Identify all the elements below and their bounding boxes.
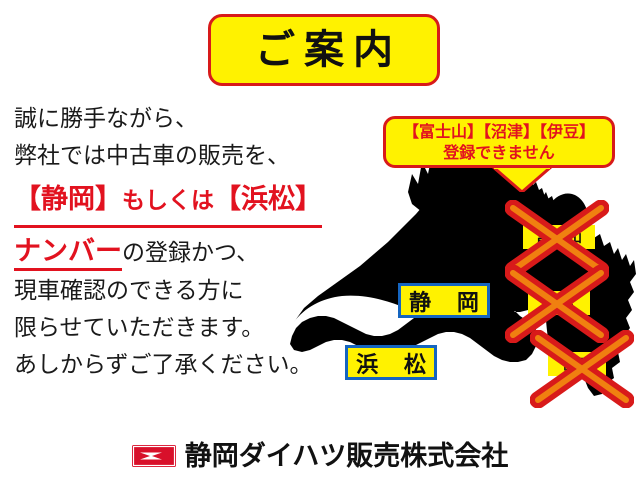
map-label-fujisan: 富士山 bbox=[523, 225, 595, 249]
map-label-numazu: 沼津 bbox=[528, 291, 590, 315]
callout-line-1: 【富士山】【沼津】【伊豆】 bbox=[403, 121, 595, 142]
notice-line-2: 弊社では中古車の販売を、 bbox=[14, 138, 332, 175]
notice-line-6: 限らせていただきます。 bbox=[14, 310, 332, 347]
footer-branding: 静岡ダイハツ販売株式会社 bbox=[0, 437, 640, 475]
bracket-shizuoka: 【静岡】 bbox=[14, 184, 122, 215]
callout-tail-icon bbox=[492, 166, 552, 192]
map-label-numazu-text: 沼津 bbox=[542, 293, 576, 313]
map-label-hamamatsu: 浜 松 bbox=[345, 345, 437, 380]
blocked-regions-callout: 【富士山】【沼津】【伊豆】 登録できません bbox=[383, 116, 615, 168]
map-label-izu: 伊豆 bbox=[548, 352, 606, 376]
notice-body-text: 誠に勝手ながら、 弊社では中古車の販売を、 【静岡】もしくは【浜松】 ナンバーの… bbox=[14, 101, 332, 384]
number-keyword: ナンバー bbox=[14, 236, 122, 271]
daihatsu-logo-icon bbox=[132, 445, 176, 467]
map-label-shizuoka: 静 岡 bbox=[398, 283, 490, 318]
connector-moshikuwa: もしくは bbox=[122, 188, 214, 214]
callout-line-2: 登録できません bbox=[443, 142, 555, 163]
map-label-hamamatsu-text: 浜 松 bbox=[347, 347, 435, 379]
page-title: ご案内 bbox=[246, 30, 402, 70]
notice-line-3-emphasis: 【静岡】もしくは【浜松】 bbox=[14, 177, 322, 228]
map-label-izu-text: 伊豆 bbox=[560, 354, 594, 374]
title-banner: ご案内 bbox=[208, 14, 440, 86]
notice-line-7: あしからずご了承ください。 bbox=[14, 347, 332, 384]
notice-line-4: ナンバーの登録かつ、 bbox=[14, 232, 332, 273]
company-name: 静岡ダイハツ販売株式会社 bbox=[185, 443, 508, 470]
notice-line-5: 現車確認のできる方に bbox=[14, 273, 332, 310]
map-label-fujisan-text: 富士山 bbox=[534, 227, 584, 247]
notice-line-1: 誠に勝手ながら、 bbox=[14, 101, 332, 138]
notice-poster: ご案内 誠に勝手ながら、 弊社では中古車の販売を、 【静岡】もしくは【浜松】 ナ… bbox=[0, 0, 640, 480]
notice-line-3: 【静岡】もしくは【浜松】 bbox=[14, 175, 332, 232]
notice-line-4-rest: の登録かつ、 bbox=[122, 240, 259, 266]
map-label-shizuoka-text: 静 岡 bbox=[400, 285, 488, 317]
